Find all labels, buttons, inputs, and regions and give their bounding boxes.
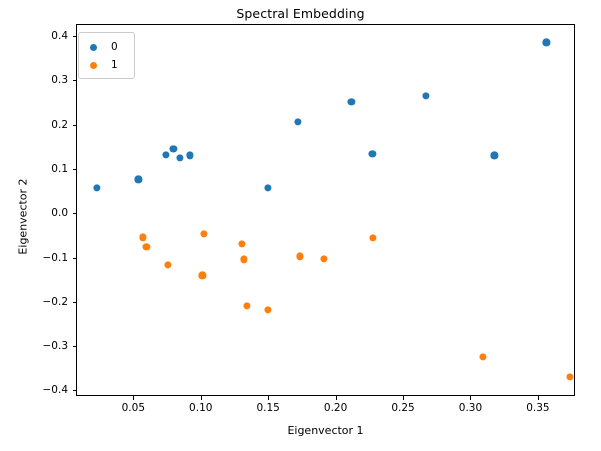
legend-item-1[interactable]: 1: [85, 56, 128, 74]
data-point: [348, 99, 355, 106]
y-tick-label: 0.4: [51, 30, 68, 42]
y-tick-label: −0.1: [43, 252, 69, 264]
plot-area: [76, 24, 575, 396]
x-axis-label: Eigenvector 1: [76, 424, 575, 437]
spectral-embedding-figure: Spectral Embedding Eigenvector 2 Eigenve…: [0, 0, 601, 451]
data-point: [239, 240, 246, 247]
data-point: [143, 243, 150, 250]
data-point: [164, 261, 171, 268]
data-point: [139, 234, 146, 241]
y-tick-label: 0.2: [51, 119, 68, 131]
data-point: [369, 235, 376, 242]
x-tick-mark: [336, 396, 337, 400]
data-point: [94, 184, 101, 191]
chart-title: Spectral Embedding: [0, 6, 601, 21]
data-point: [295, 119, 302, 126]
legend[interactable]: 01: [78, 32, 135, 79]
y-axis-label: Eigenvector 2: [17, 147, 30, 287]
x-tick-label: 0.35: [526, 402, 549, 414]
data-point: [243, 302, 250, 309]
x-tick-mark: [403, 396, 404, 400]
data-point: [320, 255, 327, 262]
x-tick-mark: [538, 396, 539, 400]
x-tick-label: 0.05: [122, 402, 145, 414]
data-point: [200, 231, 207, 238]
x-tick-mark: [268, 396, 269, 400]
data-point: [543, 39, 550, 46]
x-tick-label: 0.25: [391, 402, 414, 414]
y-tick-label: 0.1: [51, 163, 68, 175]
x-tick-label: 0.20: [324, 402, 347, 414]
data-point: [162, 151, 169, 158]
data-point: [296, 253, 303, 260]
data-point: [135, 176, 142, 183]
data-point: [199, 272, 206, 279]
data-point: [422, 92, 429, 99]
data-point: [177, 154, 184, 161]
x-tick-label: 0.30: [459, 402, 482, 414]
legend-marker-icon: [90, 62, 97, 69]
data-point: [369, 150, 376, 157]
y-tick-label: −0.3: [43, 340, 69, 352]
data-point: [264, 184, 271, 191]
legend-label: 0: [111, 41, 118, 53]
x-tick-label: 0.15: [256, 402, 279, 414]
data-point: [170, 146, 177, 153]
data-point: [566, 373, 573, 380]
y-tick-label: 0.0: [51, 207, 68, 219]
y-tick-label: −0.2: [43, 296, 69, 308]
data-point: [264, 306, 271, 313]
data-points-layer: [77, 25, 574, 395]
legend-label: 1: [111, 59, 118, 71]
legend-item-0[interactable]: 0: [85, 38, 128, 56]
x-tick-mark: [133, 396, 134, 400]
x-tick-mark: [470, 396, 471, 400]
x-tick-mark: [201, 396, 202, 400]
data-point: [491, 152, 498, 159]
data-point: [479, 353, 486, 360]
y-tick-label: −0.4: [43, 384, 69, 396]
data-point: [240, 256, 247, 263]
data-point: [186, 152, 193, 159]
y-tick-label: 0.3: [51, 74, 68, 86]
legend-marker-icon: [90, 44, 97, 51]
x-tick-label: 0.10: [189, 402, 212, 414]
